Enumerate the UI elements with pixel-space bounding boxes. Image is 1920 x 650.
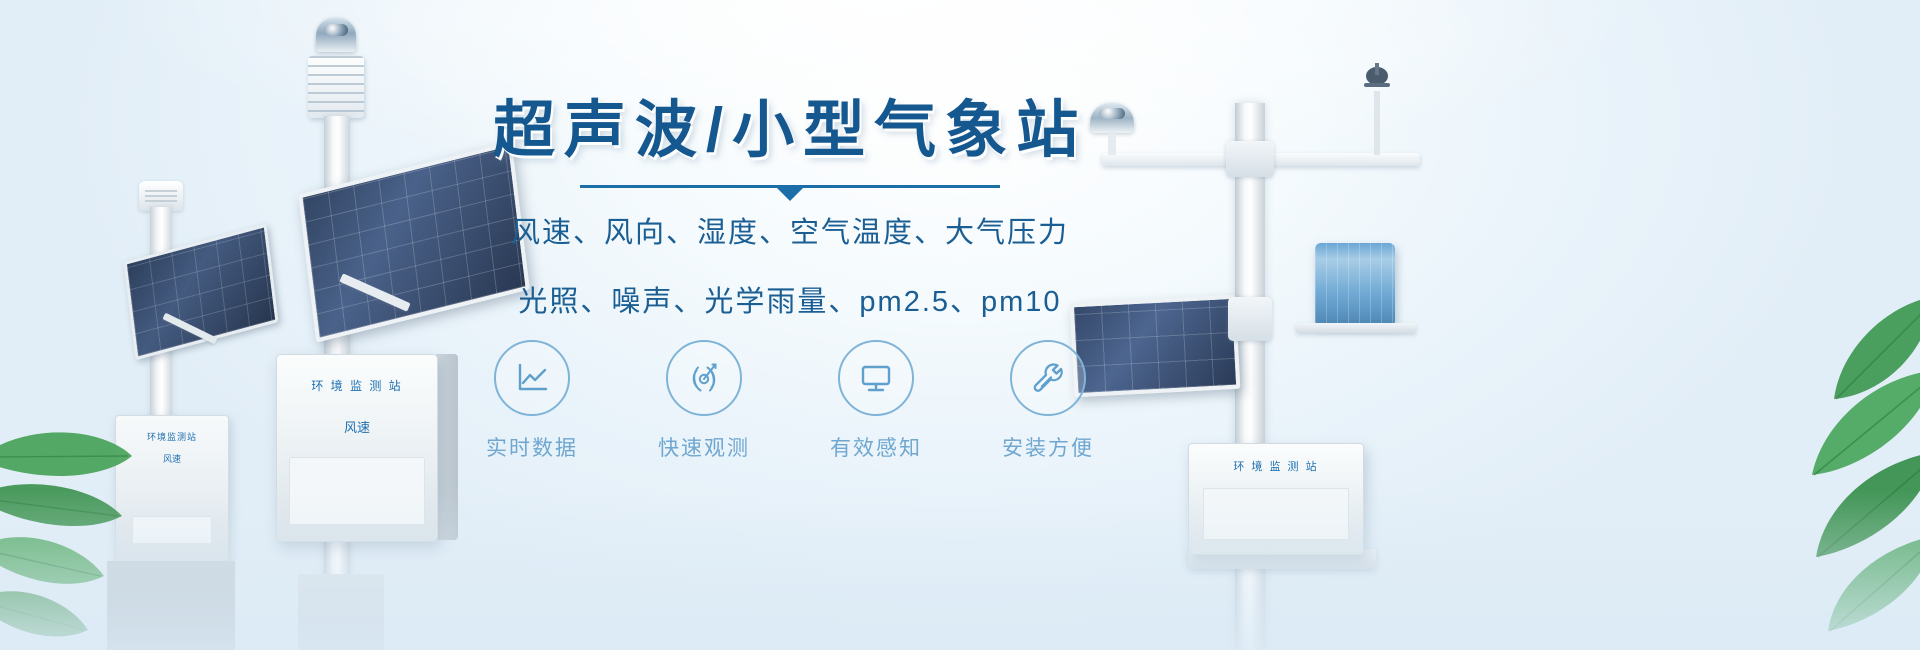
ultrasonic-sensor-icon xyxy=(316,18,356,52)
control-cabinet-right: 环 境 监 测 站 xyxy=(1188,443,1364,555)
product-banner: 环境监测站 风速 环 境 监 测 站 风速 xyxy=(0,0,1920,650)
cabinet-label-small: 环境监测站 xyxy=(116,430,228,443)
wrench-glyph xyxy=(1029,359,1067,397)
headline-block: 超声波/小型气象站 风速、风向、湿度、空气温度、大气压力 光照、噪声、光学雨量、… xyxy=(430,96,1150,326)
mast-collar-upper xyxy=(1226,141,1274,177)
brand-logo-tall: 风速 xyxy=(277,417,437,436)
radar-scan-icon xyxy=(666,340,742,416)
cabinet-label-right: 环 境 监 测 站 xyxy=(1189,458,1363,474)
feature-item-effective-sensing[interactable]: 有效感知 xyxy=(816,340,936,462)
monitor-icon xyxy=(838,340,914,416)
control-cabinet-tall: 环 境 监 测 站 风速 xyxy=(276,354,438,542)
feature-label: 快速观测 xyxy=(644,432,764,462)
feature-item-easy-installation[interactable]: 安装方便 xyxy=(988,340,1108,462)
feature-label: 有效感知 xyxy=(816,432,936,462)
page-title: 超声波/小型气象站 xyxy=(430,96,1150,165)
line-chart-icon xyxy=(494,340,570,416)
wind-vane-stem xyxy=(1374,91,1380,155)
cabinet-door-tall xyxy=(289,457,425,525)
concrete-base-small xyxy=(107,561,235,650)
feature-item-realtime-data[interactable]: 实时数据 xyxy=(472,340,592,462)
wind-vane-glyph xyxy=(1360,63,1394,93)
feature-item-fast-observation[interactable]: 快速观测 xyxy=(644,340,764,462)
concrete-base-tall xyxy=(298,574,384,650)
divider-triangle-icon xyxy=(777,188,803,201)
subtitle-line-1: 风速、风向、湿度、空气温度、大气压力 xyxy=(430,210,1150,257)
feature-label: 实时数据 xyxy=(472,432,592,462)
wind-vane-icon xyxy=(1360,63,1394,93)
brand-logo-small: 风速 xyxy=(116,452,228,465)
cabinet-door-right xyxy=(1203,488,1349,540)
solar-panel-small xyxy=(123,224,278,361)
feature-label: 安装方便 xyxy=(988,432,1108,462)
subtitle-line-2: 光照、噪声、光学雨量、pm2.5、pm10 xyxy=(430,279,1150,326)
line-chart-glyph xyxy=(513,359,551,397)
feature-list: 实时数据 快速观测 xyxy=(430,340,1150,462)
leaf-decoration-right xyxy=(1730,275,1920,650)
mast-collar-lower xyxy=(1228,297,1272,341)
title-divider xyxy=(580,185,1000,188)
radiation-shield-icon xyxy=(308,56,364,118)
rain-gauge-shelf xyxy=(1296,323,1416,333)
cabinet-label-tall: 环 境 监 测 站 xyxy=(277,377,437,394)
cabinet-vent-small xyxy=(132,516,212,544)
wrench-icon xyxy=(1010,340,1086,416)
radar-scan-glyph xyxy=(685,359,723,397)
rain-gauge-icon xyxy=(1315,243,1395,325)
monitor-glyph xyxy=(857,359,895,397)
control-cabinet-small: 环境监测站 风速 xyxy=(115,415,229,567)
